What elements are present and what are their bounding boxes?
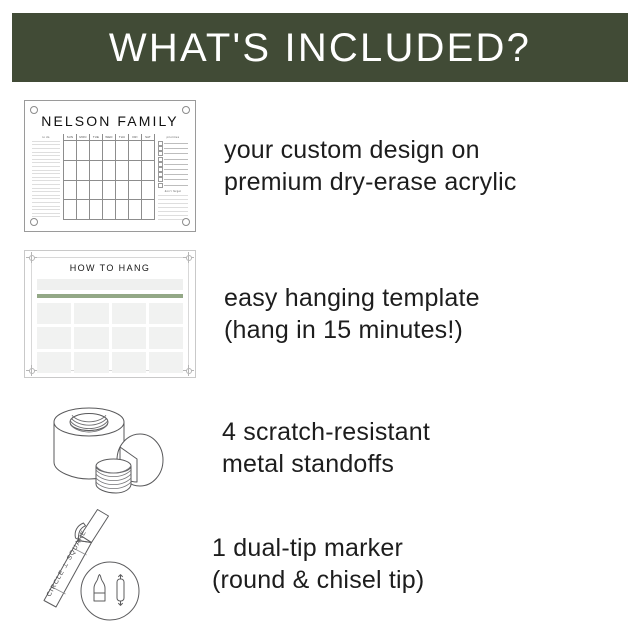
included-item-metal-standoffs: 4 scratch-resistant metal standoffs [24, 400, 430, 496]
dual-tip-marker-icon: CIRCLE ⊥ SQUARE [24, 505, 152, 623]
calendar-priorities-column: priorities don't forget [158, 134, 188, 220]
calendar-day-cell [142, 161, 155, 181]
template-grid-cell [149, 327, 183, 348]
calendar-day-cell [103, 181, 116, 201]
calendar-dont-forget-lines [158, 195, 188, 220]
calendar-board: NELSON FAMILY to do SUNMONTUEWEDTHUFRISA… [24, 100, 196, 232]
calendar-priorities-label: priorities [158, 134, 188, 141]
page-title: WHAT'S INCLUDED? [109, 28, 531, 68]
template-header-strip [37, 279, 183, 290]
calendar-day-cell [77, 141, 90, 161]
crosshair-icon [183, 252, 194, 263]
calendar-day-cell [142, 181, 155, 201]
description-line-2: (round & chisel tip) [212, 564, 424, 596]
metal-standoff-icon [24, 400, 188, 496]
write-line [164, 143, 188, 144]
description-line-1: easy hanging template [224, 282, 480, 314]
crosshair-icon [26, 252, 37, 263]
acrylic-calendar-visual: NELSON FAMILY to do SUNMONTUEWEDTHUFRISA… [24, 100, 196, 232]
write-line [164, 159, 188, 160]
template-grid-cell [37, 303, 71, 324]
calendar-day-cell [64, 161, 77, 181]
metal-standoffs-description: 4 scratch-resistant metal standoffs [222, 416, 430, 480]
calendar-todo-lines [32, 141, 60, 220]
calendar-day-cell [116, 181, 129, 201]
write-line [164, 164, 188, 165]
included-item-acrylic-calendar: NELSON FAMILY to do SUNMONTUEWEDTHUFRISA… [24, 100, 517, 232]
calendar-day-header: SUN [64, 134, 77, 141]
calendar-day-cell [116, 141, 129, 161]
calendar-day-header: WED [103, 134, 116, 141]
template-grid-cell [74, 327, 108, 348]
calendar-todo-label: to do [32, 134, 60, 141]
calendar-day-cell [64, 200, 77, 220]
write-line [164, 148, 188, 149]
calendar-body: to do SUNMONTUEWEDTHUFRISAT priorities d… [32, 134, 188, 220]
calendar-day-header: SAT [142, 134, 155, 141]
hanging-template-visual: HOW TO HANG [24, 250, 196, 378]
template-grid-cell [37, 352, 71, 373]
dual-tip-marker-visual: CIRCLE ⊥ SQUARE [24, 505, 152, 623]
calendar-day-cell [64, 141, 77, 161]
calendar-day-cell [64, 181, 77, 201]
standoff-hole-icon [30, 218, 38, 226]
calendar-day-cell [116, 161, 129, 181]
description-line-1: your custom design on [224, 134, 517, 166]
calendar-day-cell [77, 161, 90, 181]
standoff-hole-icon [30, 106, 38, 114]
template-grid-cell [74, 352, 108, 373]
calendar-family-name: NELSON FAMILY [32, 114, 188, 128]
template-grid-cell [112, 327, 146, 348]
calendar-day-cell [77, 200, 90, 220]
write-line [164, 169, 188, 170]
calendar-priority-checklist [158, 141, 188, 188]
hanging-template-description: easy hanging template (hang in 15 minute… [224, 282, 480, 346]
crosshair-icon [26, 365, 37, 376]
standoff-hole-icon [182, 218, 190, 226]
template-grid-cell [112, 352, 146, 373]
write-line [164, 179, 188, 180]
template-grid-cell [149, 352, 183, 373]
calendar-day-cell [90, 181, 103, 201]
included-item-dual-tip-marker: CIRCLE ⊥ SQUARE 1 dual-tip marker (r [24, 505, 424, 623]
template-grid-cell [74, 303, 108, 324]
calendar-day-cell [90, 161, 103, 181]
included-item-hanging-template: HOW TO HANG easy hanging template (hang … [24, 250, 480, 378]
dual-tip-marker-description: 1 dual-tip marker (round & chisel tip) [212, 532, 424, 596]
standoff-hole-icon [182, 106, 190, 114]
description-line-2: metal standoffs [222, 448, 430, 480]
calendar-month-grid: SUNMONTUEWEDTHUFRISAT [63, 134, 155, 220]
calendar-day-cell [129, 200, 142, 220]
template-grid-cell [37, 327, 71, 348]
calendar-day-cell [129, 141, 142, 161]
calendar-day-header: FRI [129, 134, 142, 141]
header-banner: WHAT'S INCLUDED? [12, 13, 628, 82]
template-grid-cell [112, 303, 146, 324]
calendar-day-header: THU [116, 134, 129, 141]
calendar-day-cell [103, 141, 116, 161]
calendar-day-cell [103, 200, 116, 220]
template-green-bar [37, 294, 183, 298]
calendar-day-cell [116, 200, 129, 220]
calendar-day-cell [103, 161, 116, 181]
calendar-day-cell [90, 200, 103, 220]
calendar-dont-forget-label: don't forget [158, 188, 188, 195]
calendar-day-header: MON [77, 134, 90, 141]
calendar-day-cell [142, 200, 155, 220]
description-line-1: 1 dual-tip marker [212, 532, 424, 564]
template-grid-cell [149, 303, 183, 324]
write-line [164, 185, 188, 186]
calendar-day-cell [142, 141, 155, 161]
acrylic-calendar-description: your custom design on premium dry-erase … [224, 134, 517, 198]
write-line [164, 153, 188, 154]
template-title: HOW TO HANG [35, 264, 185, 273]
calendar-day-header: TUE [90, 134, 103, 141]
metal-standoff-visual [24, 400, 188, 496]
calendar-day-cell [77, 181, 90, 201]
calendar-day-cell [129, 161, 142, 181]
write-line [164, 174, 188, 175]
calendar-todo-column: to do [32, 134, 60, 220]
description-line-2: premium dry-erase acrylic [224, 166, 517, 198]
calendar-day-cell [129, 181, 142, 201]
template-grid [37, 303, 183, 373]
crosshair-icon [183, 365, 194, 376]
description-line-2: (hang in 15 minutes!) [224, 314, 480, 346]
description-line-1: 4 scratch-resistant [222, 416, 430, 448]
hanging-template-sheet: HOW TO HANG [24, 250, 196, 378]
calendar-day-cell [90, 141, 103, 161]
